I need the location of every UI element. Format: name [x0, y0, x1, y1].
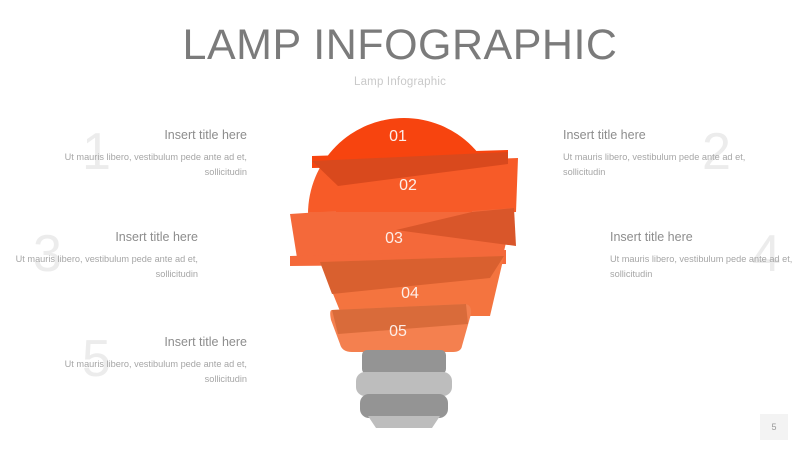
- lamp-infographic-graphic: 01 02 03 04 05: [276, 108, 532, 428]
- lamp-slice-label-04: 04: [401, 285, 419, 302]
- info-block-5[interactable]: Insert title here Ut mauris libero, vest…: [57, 335, 247, 387]
- info-block-2-title: Insert title here: [563, 128, 753, 143]
- lamp-slice-label-02: 02: [399, 177, 417, 194]
- lamp-slice-label-01: 01: [389, 128, 407, 145]
- info-block-2-body: Ut mauris libero, vestibulum pede ante a…: [563, 150, 753, 180]
- info-block-5-body: Ut mauris libero, vestibulum pede ante a…: [57, 357, 247, 387]
- info-block-5-title: Insert title here: [57, 335, 247, 350]
- info-block-1-title: Insert title here: [57, 128, 247, 143]
- info-block-4[interactable]: Insert title here Ut mauris libero, vest…: [610, 230, 800, 282]
- info-block-2[interactable]: Insert title here Ut mauris libero, vest…: [563, 128, 753, 180]
- lamp-slice-label-03: 03: [385, 230, 403, 247]
- page-number-badge: 5: [760, 414, 788, 440]
- info-block-1[interactable]: Insert title here Ut mauris libero, vest…: [57, 128, 247, 180]
- info-block-3-title: Insert title here: [8, 230, 198, 245]
- info-block-4-body: Ut mauris libero, vestibulum pede ante a…: [610, 252, 800, 282]
- info-block-4-title: Insert title here: [610, 230, 800, 245]
- page-subtitle: Lamp Infographic: [0, 76, 800, 88]
- slide-canvas: LAMP INFOGRAPHIC Lamp Infographic: [0, 0, 800, 450]
- lamp-slice-label-05: 05: [389, 323, 407, 340]
- page-title: LAMP INFOGRAPHIC: [0, 22, 800, 69]
- info-block-1-body: Ut mauris libero, vestibulum pede ante a…: [57, 150, 247, 180]
- lamp-screw-base: [356, 350, 452, 428]
- info-block-3-body: Ut mauris libero, vestibulum pede ante a…: [8, 252, 198, 282]
- info-block-3[interactable]: Insert title here Ut mauris libero, vest…: [8, 230, 198, 282]
